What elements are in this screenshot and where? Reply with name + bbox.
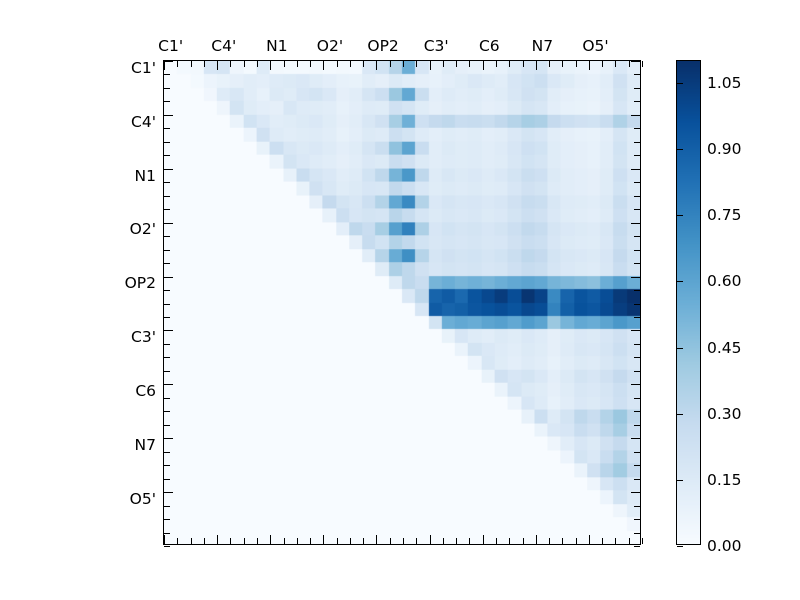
- x-tick-top-0: [164, 61, 165, 70]
- x-tick-top-35: [629, 61, 630, 67]
- y-tick-left-34: [164, 519, 170, 520]
- x-tick-bottom-4: [217, 535, 218, 544]
- x-tick-top-20: [430, 61, 431, 70]
- colorbar-tick-3: [677, 348, 683, 349]
- y-tick-left-21: [164, 344, 170, 345]
- y-tick-left-13: [164, 236, 170, 237]
- x-tick-top-36: [642, 61, 643, 67]
- x-tick-bottom-32: [589, 535, 590, 544]
- colorbar-tick-label-0: 0.00: [707, 537, 742, 555]
- x-axis-label-0: C1': [158, 37, 183, 55]
- y-tick-right-24: [631, 384, 640, 385]
- x-tick-bottom-26: [509, 538, 510, 544]
- x-tick-top-29: [549, 61, 550, 67]
- x-tick-bottom-36: [642, 538, 643, 544]
- x-tick-top-19: [416, 61, 417, 67]
- x-axis-label-2: N1: [266, 37, 287, 55]
- x-axis-label-6: C6: [479, 37, 500, 55]
- y-tick-left-24: [164, 384, 173, 385]
- x-tick-top-7: [257, 61, 258, 67]
- x-tick-bottom-0: [164, 535, 165, 544]
- x-tick-top-21: [443, 61, 444, 67]
- x-tick-bottom-13: [337, 538, 338, 544]
- y-axis-label-8: O5': [130, 490, 156, 508]
- colorbar-tick-7: [677, 83, 683, 84]
- x-tick-top-27: [523, 61, 524, 67]
- x-tick-bottom-23: [469, 538, 470, 544]
- colorbar-tick-0: [677, 546, 683, 547]
- y-tick-right-2: [634, 88, 640, 89]
- y-tick-right-25: [634, 398, 640, 399]
- x-tick-bottom-19: [416, 538, 417, 544]
- y-tick-right-30: [634, 465, 640, 466]
- y-tick-left-32: [164, 492, 173, 493]
- x-tick-top-14: [350, 61, 351, 67]
- x-axis-label-7: N7: [532, 37, 553, 55]
- x-tick-top-18: [403, 61, 404, 67]
- x-tick-top-10: [297, 61, 298, 67]
- colorbar-gradient: [677, 61, 700, 544]
- y-tick-right-18: [634, 304, 640, 305]
- x-tick-bottom-14: [350, 538, 351, 544]
- x-tick-top-28: [536, 61, 537, 70]
- y-tick-right-5: [634, 128, 640, 129]
- y-tick-right-35: [634, 533, 640, 534]
- y-tick-right-19: [634, 317, 640, 318]
- y-tick-left-19: [164, 317, 170, 318]
- y-tick-left-11: [164, 209, 170, 210]
- y-tick-left-30: [164, 465, 170, 466]
- heatmap-axes: C1'C4'N1O2'OP2C3'C6N7O5' C1'C4'N1O2'OP2C…: [163, 60, 641, 545]
- y-tick-right-8: [631, 169, 640, 170]
- y-tick-left-26: [164, 411, 170, 412]
- y-tick-right-33: [634, 506, 640, 507]
- colorbar-tick-label-2: 0.30: [707, 405, 742, 423]
- y-tick-right-13: [634, 236, 640, 237]
- x-tick-bottom-35: [629, 538, 630, 544]
- y-tick-left-35: [164, 533, 170, 534]
- x-tick-top-17: [390, 61, 391, 67]
- y-tick-left-33: [164, 506, 170, 507]
- colorbar-tick-4: [677, 281, 683, 282]
- y-tick-left-4: [164, 115, 173, 116]
- y-tick-left-14: [164, 250, 170, 251]
- y-tick-right-1: [634, 74, 640, 75]
- x-tick-top-1: [177, 61, 178, 67]
- y-tick-right-29: [634, 452, 640, 453]
- x-tick-top-12: [323, 61, 324, 70]
- x-tick-top-9: [284, 61, 285, 67]
- colorbar-tick-5: [677, 215, 683, 216]
- x-tick-bottom-24: [483, 535, 484, 544]
- x-tick-bottom-21: [443, 538, 444, 544]
- y-tick-left-7: [164, 155, 170, 156]
- colorbar-tick-label-3: 0.45: [707, 339, 742, 357]
- x-tick-top-3: [204, 61, 205, 67]
- y-tick-right-10: [634, 196, 640, 197]
- x-tick-bottom-15: [363, 538, 364, 544]
- y-tick-right-22: [634, 357, 640, 358]
- heatmap-image: [164, 61, 640, 544]
- x-tick-top-23: [469, 61, 470, 67]
- colorbar-tick-label-6: 0.90: [707, 140, 742, 158]
- y-tick-left-16: [164, 277, 173, 278]
- y-tick-left-25: [164, 398, 170, 399]
- x-tick-top-31: [576, 61, 577, 67]
- x-tick-bottom-9: [284, 538, 285, 544]
- x-tick-bottom-34: [615, 538, 616, 544]
- y-axis-label-6: C6: [135, 382, 156, 400]
- y-tick-left-10: [164, 196, 170, 197]
- y-axis-label-0: C1': [131, 59, 156, 77]
- y-axis-label-1: C4': [131, 113, 156, 131]
- x-tick-top-4: [217, 61, 218, 70]
- y-tick-right-4: [631, 115, 640, 116]
- y-tick-right-23: [634, 371, 640, 372]
- y-tick-left-28: [164, 438, 173, 439]
- y-tick-left-20: [164, 330, 173, 331]
- y-tick-left-1: [164, 74, 170, 75]
- x-tick-top-25: [496, 61, 497, 67]
- colorbar-tick-label-1: 0.15: [707, 471, 742, 489]
- y-tick-left-6: [164, 142, 170, 143]
- x-tick-bottom-6: [244, 538, 245, 544]
- y-tick-right-16: [631, 277, 640, 278]
- y-axis-label-5: C3': [131, 328, 156, 346]
- x-tick-bottom-1: [177, 538, 178, 544]
- x-tick-top-13: [337, 61, 338, 67]
- x-tick-top-30: [562, 61, 563, 67]
- x-tick-top-22: [456, 61, 457, 67]
- y-tick-left-17: [164, 290, 170, 291]
- y-tick-right-32: [631, 492, 640, 493]
- y-tick-right-34: [634, 519, 640, 520]
- x-axis-label-4: OP2: [367, 37, 398, 55]
- x-tick-top-15: [363, 61, 364, 67]
- x-tick-top-26: [509, 61, 510, 67]
- x-axis-label-3: O2': [317, 37, 343, 55]
- colorbar-tick-label-4: 0.60: [707, 272, 742, 290]
- y-tick-right-36: [634, 546, 640, 547]
- x-tick-bottom-8: [270, 535, 271, 544]
- y-tick-right-21: [634, 344, 640, 345]
- y-tick-right-14: [634, 250, 640, 251]
- x-tick-top-33: [602, 61, 603, 67]
- colorbar-tick-6: [677, 149, 683, 150]
- y-tick-right-31: [634, 479, 640, 480]
- x-tick-bottom-3: [204, 538, 205, 544]
- x-tick-top-2: [191, 61, 192, 67]
- y-tick-left-9: [164, 182, 170, 183]
- x-tick-top-11: [310, 61, 311, 67]
- y-tick-left-31: [164, 479, 170, 480]
- x-tick-bottom-29: [549, 538, 550, 544]
- x-tick-top-24: [483, 61, 484, 70]
- x-tick-bottom-25: [496, 538, 497, 544]
- x-tick-bottom-7: [257, 538, 258, 544]
- x-tick-bottom-31: [576, 538, 577, 544]
- y-tick-left-18: [164, 304, 170, 305]
- x-axis-label-8: O5': [582, 37, 608, 55]
- colorbar-tick-label-7: 1.05: [707, 74, 742, 92]
- y-axis-label-4: OP2: [125, 274, 156, 292]
- x-tick-bottom-28: [536, 535, 537, 544]
- x-axis-label-1: C4': [211, 37, 236, 55]
- y-tick-left-12: [164, 223, 173, 224]
- colorbar: 0.000.150.300.450.600.750.901.05: [676, 60, 701, 545]
- y-tick-right-3: [634, 101, 640, 102]
- x-tick-bottom-18: [403, 538, 404, 544]
- x-tick-top-34: [615, 61, 616, 67]
- x-tick-bottom-5: [230, 538, 231, 544]
- y-tick-right-15: [634, 263, 640, 264]
- y-axis-label-2: N1: [135, 167, 156, 185]
- y-tick-right-26: [634, 411, 640, 412]
- y-tick-left-8: [164, 169, 173, 170]
- y-tick-left-27: [164, 425, 170, 426]
- y-tick-right-27: [634, 425, 640, 426]
- y-tick-left-36: [164, 546, 170, 547]
- colorbar-tick-2: [677, 414, 683, 415]
- x-tick-top-5: [230, 61, 231, 67]
- y-tick-left-5: [164, 128, 170, 129]
- x-tick-bottom-2: [191, 538, 192, 544]
- x-tick-bottom-17: [390, 538, 391, 544]
- x-tick-bottom-33: [602, 538, 603, 544]
- x-tick-bottom-16: [376, 535, 377, 544]
- y-axis-label-3: O2': [130, 220, 156, 238]
- y-tick-right-17: [634, 290, 640, 291]
- x-tick-top-32: [589, 61, 590, 70]
- y-tick-left-3: [164, 101, 170, 102]
- x-tick-bottom-22: [456, 538, 457, 544]
- x-axis-label-5: C3': [424, 37, 449, 55]
- colorbar-tick-label-5: 0.75: [707, 206, 742, 224]
- figure-canvas: C1'C4'N1O2'OP2C3'C6N7O5' C1'C4'N1O2'OP2C…: [0, 0, 800, 600]
- y-tick-left-29: [164, 452, 170, 453]
- y-tick-right-11: [634, 209, 640, 210]
- x-tick-bottom-30: [562, 538, 563, 544]
- y-tick-left-23: [164, 371, 170, 372]
- y-tick-right-28: [631, 438, 640, 439]
- x-tick-top-6: [244, 61, 245, 67]
- y-tick-right-12: [631, 223, 640, 224]
- x-tick-top-16: [376, 61, 377, 70]
- y-tick-right-7: [634, 155, 640, 156]
- y-tick-left-0: [164, 61, 173, 62]
- x-tick-bottom-11: [310, 538, 311, 544]
- y-tick-right-0: [631, 61, 640, 62]
- x-tick-bottom-27: [523, 538, 524, 544]
- y-tick-left-2: [164, 88, 170, 89]
- y-tick-right-6: [634, 142, 640, 143]
- y-tick-right-20: [631, 330, 640, 331]
- x-tick-top-8: [270, 61, 271, 70]
- y-tick-right-9: [634, 182, 640, 183]
- y-tick-left-22: [164, 357, 170, 358]
- x-tick-bottom-20: [430, 535, 431, 544]
- y-tick-left-15: [164, 263, 170, 264]
- x-tick-bottom-12: [323, 535, 324, 544]
- y-axis-label-7: N7: [135, 436, 156, 454]
- x-tick-bottom-10: [297, 538, 298, 544]
- colorbar-tick-1: [677, 480, 683, 481]
